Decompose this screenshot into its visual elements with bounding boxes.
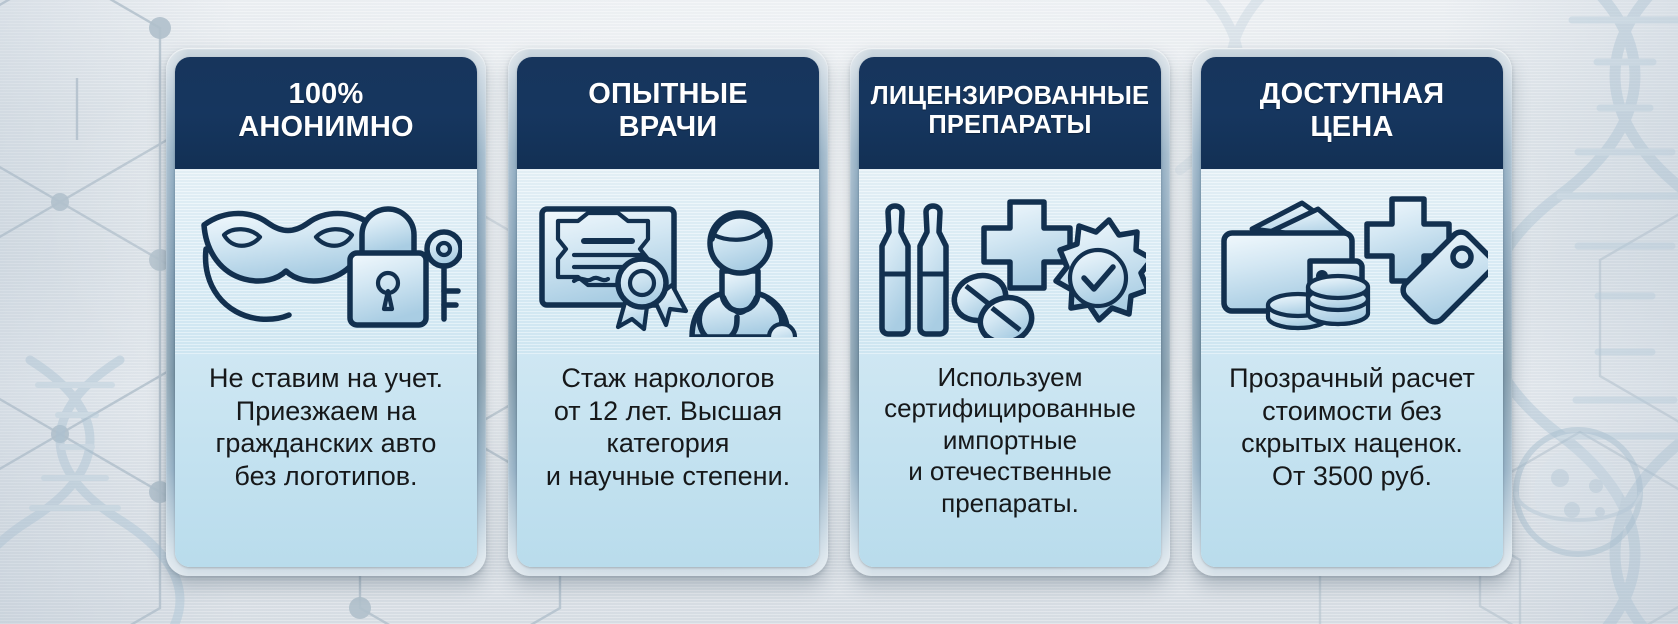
- card-body-affordable-price: Прозрачный расчет стоимости без скрытых …: [1201, 354, 1503, 567]
- certificate-doctor-icon: [517, 169, 819, 354]
- card-body-anonymity: Не ставим на учет. Приезжаем на гражданс…: [175, 354, 477, 567]
- card-title: ОПЫТНЫЕ ВРАЧИ: [588, 78, 748, 144]
- benefits-card-row: 100% АНОНИМНО: [0, 0, 1678, 624]
- card-body-licensed-drugs: Используем сертифицированные импортные и…: [859, 354, 1161, 567]
- card-header-anonymity: 100% АНОНИМНО: [175, 57, 477, 169]
- card-title: 100% АНОНИМНО: [238, 78, 414, 144]
- card-title: ЛИЦЕНЗИРОВАННЫЕ ПРЕПАРАТЫ: [871, 82, 1149, 140]
- card-title: ДОСТУПНАЯ ЦЕНА: [1260, 78, 1445, 144]
- benefit-card-affordable-price[interactable]: ДОСТУПНАЯ ЦЕНА: [1192, 48, 1512, 576]
- ampoule-pills-cross-badge-icon: [859, 169, 1161, 354]
- card-body-text: Стаж наркологов от 12 лет. Высшая катего…: [546, 362, 790, 493]
- card-header-affordable-price: ДОСТУПНАЯ ЦЕНА: [1201, 57, 1503, 169]
- card-body-text: Используем сертифицированные импортные и…: [884, 362, 1136, 519]
- card-body-experienced-doctors: Стаж наркологов от 12 лет. Высшая катего…: [517, 354, 819, 567]
- benefit-card-experienced-doctors[interactable]: ОПЫТНЫЕ ВРАЧИ: [508, 48, 828, 576]
- mask-lock-key-icon: [175, 169, 477, 354]
- wallet-coins-cross-tag-icon: [1201, 169, 1503, 354]
- benefit-card-anonymity[interactable]: 100% АНОНИМНО: [166, 48, 486, 576]
- benefit-card-licensed-drugs[interactable]: ЛИЦЕНЗИРОВАННЫЕ ПРЕПАРАТЫ: [850, 48, 1170, 576]
- card-header-experienced-doctors: ОПЫТНЫЕ ВРАЧИ: [517, 57, 819, 169]
- card-body-text: Прозрачный расчет стоимости без скрытых …: [1229, 362, 1475, 493]
- card-body-text: Не ставим на учет. Приезжаем на гражданс…: [209, 362, 443, 493]
- card-header-licensed-drugs: ЛИЦЕНЗИРОВАННЫЕ ПРЕПАРАТЫ: [859, 57, 1161, 169]
